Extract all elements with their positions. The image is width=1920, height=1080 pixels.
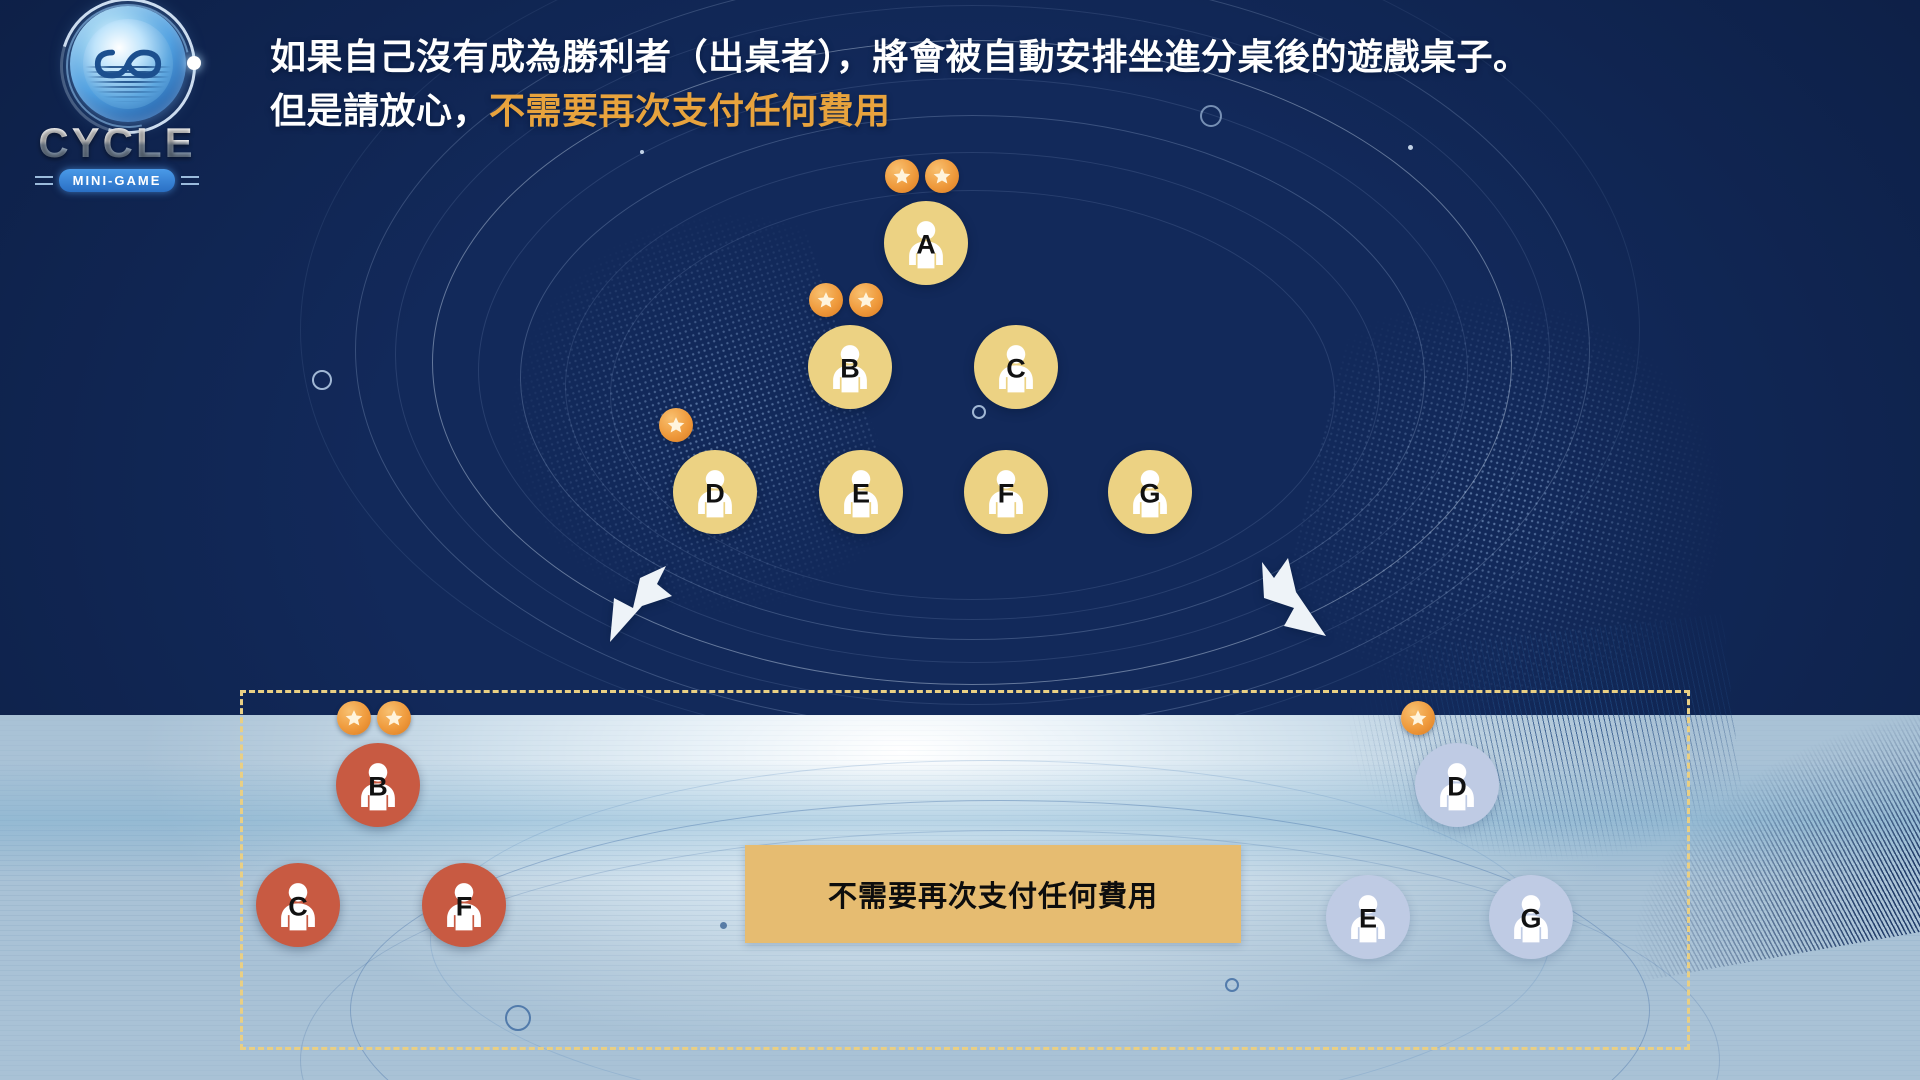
- avatar-f-top[interactable]: F: [964, 450, 1048, 534]
- headline-line-2-plain: 但是請放心，: [270, 90, 489, 131]
- star-icon: [1401, 701, 1435, 735]
- person-icon: [834, 465, 888, 519]
- brand-badge-row: MINI-GAME: [22, 169, 212, 192]
- person-icon: [1430, 758, 1484, 812]
- avatar-e-right[interactable]: E: [1326, 875, 1410, 959]
- star-badges-b-left: [337, 701, 411, 735]
- star-icon: [377, 701, 411, 735]
- avatar-c-top[interactable]: C: [974, 325, 1058, 409]
- person-icon: [437, 878, 491, 932]
- avatar-g-top[interactable]: G: [1108, 450, 1192, 534]
- arrow-down-right: [1248, 552, 1330, 646]
- brand-name: CYCLE: [22, 122, 212, 164]
- avatar-c-left[interactable]: C: [256, 863, 340, 947]
- person-icon: [989, 340, 1043, 394]
- person-icon: [899, 216, 953, 270]
- brand-logo: CYCLE MINI-GAME: [22, 4, 212, 204]
- star-icon: [885, 159, 919, 193]
- person-icon: [1504, 890, 1558, 944]
- caption-text: 不需要再次支付任何費用: [828, 873, 1158, 915]
- caption-box: 不需要再次支付任何費用: [745, 845, 1241, 943]
- star-icon: [809, 283, 843, 317]
- decor-dot: [1408, 145, 1413, 150]
- person-icon: [688, 465, 742, 519]
- badge-tick-right-icon: [181, 176, 199, 185]
- brand-badge: MINI-GAME: [59, 169, 176, 192]
- person-icon: [1341, 890, 1395, 944]
- star-badges-a-top: [885, 159, 959, 193]
- avatar-b-top[interactable]: B: [808, 325, 892, 409]
- avatar-a-top[interactable]: A: [884, 201, 968, 285]
- avatar-d-right[interactable]: D: [1415, 743, 1499, 827]
- person-icon: [823, 340, 877, 394]
- badge-tick-left-icon: [35, 176, 53, 185]
- decor-circle: [972, 405, 986, 419]
- avatar-g-right[interactable]: G: [1489, 875, 1573, 959]
- star-icon: [925, 159, 959, 193]
- avatar-d-top[interactable]: D: [673, 450, 757, 534]
- person-icon: [1123, 465, 1177, 519]
- infinity-icon: [70, 6, 186, 122]
- orbit-dot-icon: [187, 56, 201, 70]
- headline-line-2: 但是請放心，不需要再次支付任何費用: [270, 84, 1890, 138]
- star-badges-d-top: [659, 408, 693, 442]
- star-icon: [849, 283, 883, 317]
- person-icon: [271, 878, 325, 932]
- star-badges-b-top: [809, 283, 883, 317]
- avatar-e-top[interactable]: E: [819, 450, 903, 534]
- star-badges-d-right: [1401, 701, 1435, 735]
- decor-dot: [640, 150, 644, 154]
- headline-line-1: 如果自己沒有成為勝利者（出桌者），將會被自動安排坐進分桌後的遊戲桌子。: [270, 30, 1890, 84]
- headline: 如果自己沒有成為勝利者（出桌者），將會被自動安排坐進分桌後的遊戲桌子。 但是請放…: [270, 30, 1890, 138]
- decor-circle: [312, 370, 332, 390]
- person-icon: [979, 465, 1033, 519]
- arrow-down-left: [600, 558, 678, 650]
- headline-line-2-accent: 不需要再次支付任何費用: [489, 90, 891, 131]
- avatar-f-left[interactable]: F: [422, 863, 506, 947]
- slide-canvas: CYCLE MINI-GAME 如果自己沒有成為勝利者（出桌者），將會被自動安排…: [0, 0, 1920, 1080]
- person-icon: [351, 758, 405, 812]
- star-icon: [337, 701, 371, 735]
- star-icon: [659, 408, 693, 442]
- avatar-b-left[interactable]: B: [336, 743, 420, 827]
